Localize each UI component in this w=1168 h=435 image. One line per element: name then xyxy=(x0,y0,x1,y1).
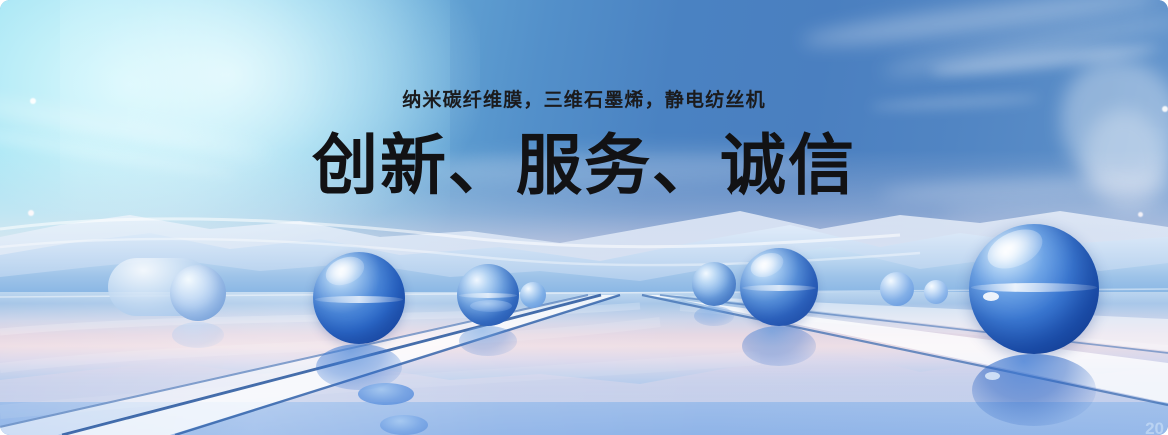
text-layer: 纳米碳纤维膜，三维石墨烯，静电纺丝机 创新、服务、诚信 20 xyxy=(0,0,1168,435)
hero-banner: 纳米碳纤维膜，三维石墨烯，静电纺丝机 创新、服务、诚信 20 xyxy=(0,0,1168,435)
corner-mark: 20 xyxy=(1145,419,1164,435)
banner-subtitle: 纳米碳纤维膜，三维石墨烯，静电纺丝机 xyxy=(0,85,1168,112)
banner-headline: 创新、服务、诚信 xyxy=(0,131,1168,200)
